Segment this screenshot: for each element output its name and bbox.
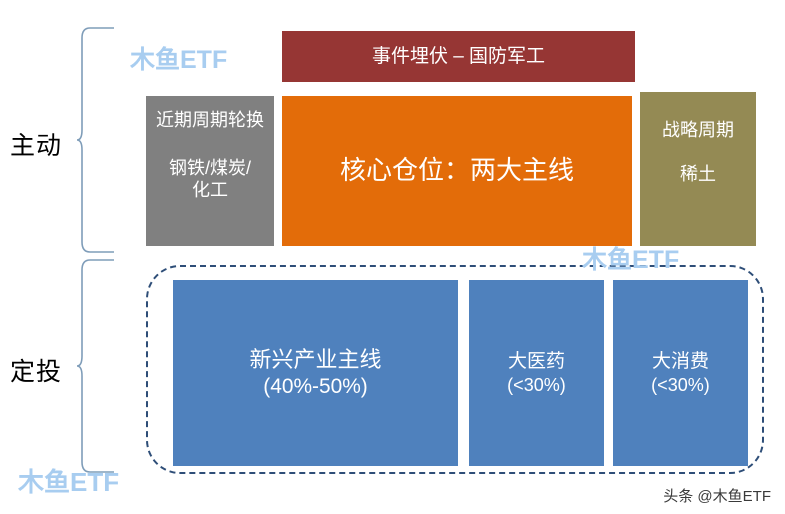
group-label-active: 主动 — [10, 126, 62, 162]
box-emerging-industry-title: 新兴产业主线 — [249, 347, 381, 374]
box-cycle-rotation[interactable]: 近期周期轮换 钢铁/煤炭/ 化工 — [146, 96, 274, 246]
box-strategic-cycle[interactable]: 战略周期 稀土 — [640, 92, 756, 246]
box-core-position-title: 核心仓位：两大主线 — [340, 155, 574, 187]
box-pharmaceutical-title: 大医药 — [508, 350, 565, 373]
box-consumer-title: 大消费 — [652, 350, 709, 373]
box-cycle-rotation-title: 近期周期轮换 — [156, 110, 264, 132]
box-emerging-industry-percent: (40%-50%) — [263, 374, 368, 400]
box-event-defense[interactable]: 事件埋伏 – 国防军工 — [282, 31, 635, 82]
box-pharmaceutical[interactable]: 大医药 (<30%) — [469, 280, 604, 466]
box-strategic-cycle-title: 战略周期 — [662, 120, 734, 142]
watermark-middle: 木鱼ETF — [582, 240, 679, 276]
box-consumer[interactable]: 大消费 (<30%) — [613, 280, 748, 466]
box-pharmaceutical-percent: (<30%) — [507, 374, 566, 396]
box-emerging-industry[interactable]: 新兴产业主线 (40%-50%) — [173, 280, 458, 466]
box-event-defense-title: 事件埋伏 – 国防军工 — [372, 45, 545, 68]
group-label-regular: 定投 — [10, 352, 62, 388]
watermark-top: 木鱼ETF — [130, 40, 227, 76]
credit-text: 头条 @木鱼ETF — [663, 485, 771, 506]
box-consumer-percent: (<30%) — [651, 374, 710, 396]
diagram-canvas: 主动 定投 事件埋伏 – 国防军工 近期周期轮换 钢铁/煤炭/ 化工 核心仓位：… — [0, 0, 785, 514]
brace-active-icon — [76, 26, 116, 254]
box-core-position[interactable]: 核心仓位：两大主线 — [282, 96, 632, 246]
watermark-bottom: 木鱼ETF — [18, 462, 119, 499]
box-cycle-rotation-sub: 钢铁/煤炭/ 化工 — [169, 158, 251, 202]
box-strategic-cycle-sub: 稀土 — [680, 164, 716, 186]
brace-regular-icon — [76, 258, 116, 474]
